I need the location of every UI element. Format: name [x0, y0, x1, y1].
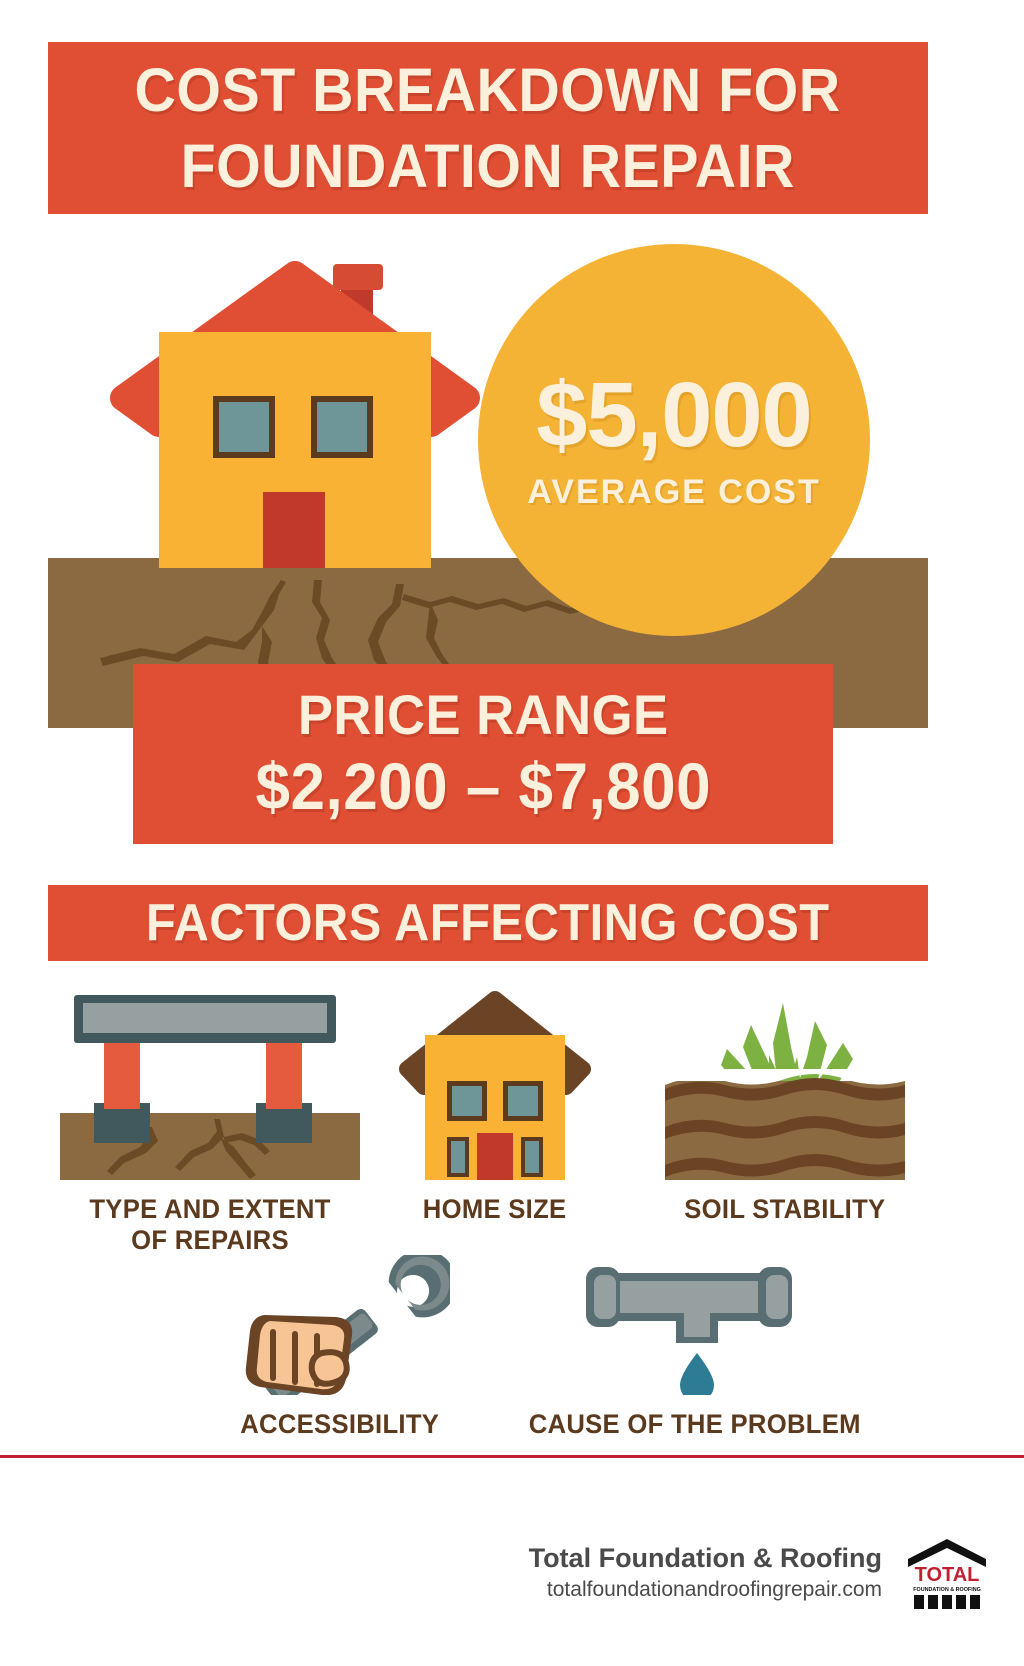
door-icon: [477, 1133, 513, 1180]
factor-label: HOME SIZE: [423, 1194, 567, 1225]
factor-cause-of-the-problem: CAUSE OF THE PROBLEM: [495, 1255, 895, 1440]
window-icon: [311, 396, 373, 458]
window-icon: [521, 1137, 543, 1177]
leaking-pipe-icon: [580, 1255, 810, 1395]
footer-text-block: Total Foundation & Roofing totalfoundati…: [529, 1541, 882, 1605]
page-title-line-1: COST BREAKDOWN FOR: [135, 53, 841, 127]
window-icon: [447, 1081, 487, 1121]
factor-soil-stability: SOIL STABILITY: [645, 985, 925, 1225]
hero-house-illustration: [95, 248, 495, 573]
hand-wrench-icon: [230, 1255, 450, 1395]
window-icon: [213, 396, 275, 458]
logo-tagline: FOUNDATION & ROOFING: [913, 1587, 981, 1593]
pier-icon: [266, 1033, 302, 1109]
factor-label: TYPE AND EXTENT OF REPAIRS: [89, 1194, 330, 1256]
price-range-heading: PRICE RANGE: [298, 683, 669, 747]
company-website-url[interactable]: totalfoundationandroofingrepair.com: [529, 1575, 882, 1605]
footer-divider: [0, 1455, 1024, 1458]
average-cost-label: AVERAGE COST: [527, 473, 821, 512]
average-cost-amount: $5,000: [536, 369, 811, 461]
logo-wordmark: TOTAL: [915, 1564, 980, 1586]
fist-icon: [246, 1315, 352, 1395]
factors-heading-banner: FACTORS AFFECTING COST: [48, 885, 928, 961]
pipe-icon: [586, 1267, 792, 1343]
factor-accessibility: ACCESSIBILITY: [200, 1255, 480, 1440]
page-title-line-2: FOUNDATION REPAIR: [181, 129, 795, 203]
soil-strata-grass-icon: [665, 985, 905, 1180]
factor-label: SOIL STABILITY: [684, 1194, 885, 1225]
average-cost-badge: $5,000 AVERAGE COST: [478, 244, 870, 636]
factor-type-and-extent-of-repairs: TYPE AND EXTENT OF REPAIRS: [60, 985, 360, 1256]
footer: Total Foundation & Roofing totalfoundati…: [0, 1480, 1024, 1666]
pier-beam-foundation-icon: [60, 985, 360, 1180]
price-range-value: $2,200 – $7,800: [255, 747, 711, 825]
factor-label: ACCESSIBILITY: [241, 1409, 440, 1440]
two-story-house-icon: [395, 985, 595, 1180]
price-range-banner: PRICE RANGE $2,200 – $7,800: [133, 664, 833, 844]
water-droplet-icon: [680, 1353, 714, 1395]
pier-icon: [104, 1033, 140, 1109]
door-icon: [263, 492, 325, 568]
company-name: Total Foundation & Roofing: [529, 1541, 882, 1575]
title-banner: COST BREAKDOWN FOR FOUNDATION REPAIR: [48, 42, 928, 214]
company-logo[interactable]: TOTAL FOUNDATION & ROOFING: [904, 1537, 990, 1609]
factor-label: CAUSE OF THE PROBLEM: [529, 1409, 861, 1440]
factors-heading: FACTORS AFFECTING COST: [146, 893, 830, 953]
window-icon: [503, 1081, 543, 1121]
infographic-page: COST BREAKDOWN FOR FOUNDATION REPAIR: [0, 0, 1024, 1666]
window-icon: [447, 1137, 469, 1177]
factor-home-size: HOME SIZE: [375, 985, 615, 1225]
